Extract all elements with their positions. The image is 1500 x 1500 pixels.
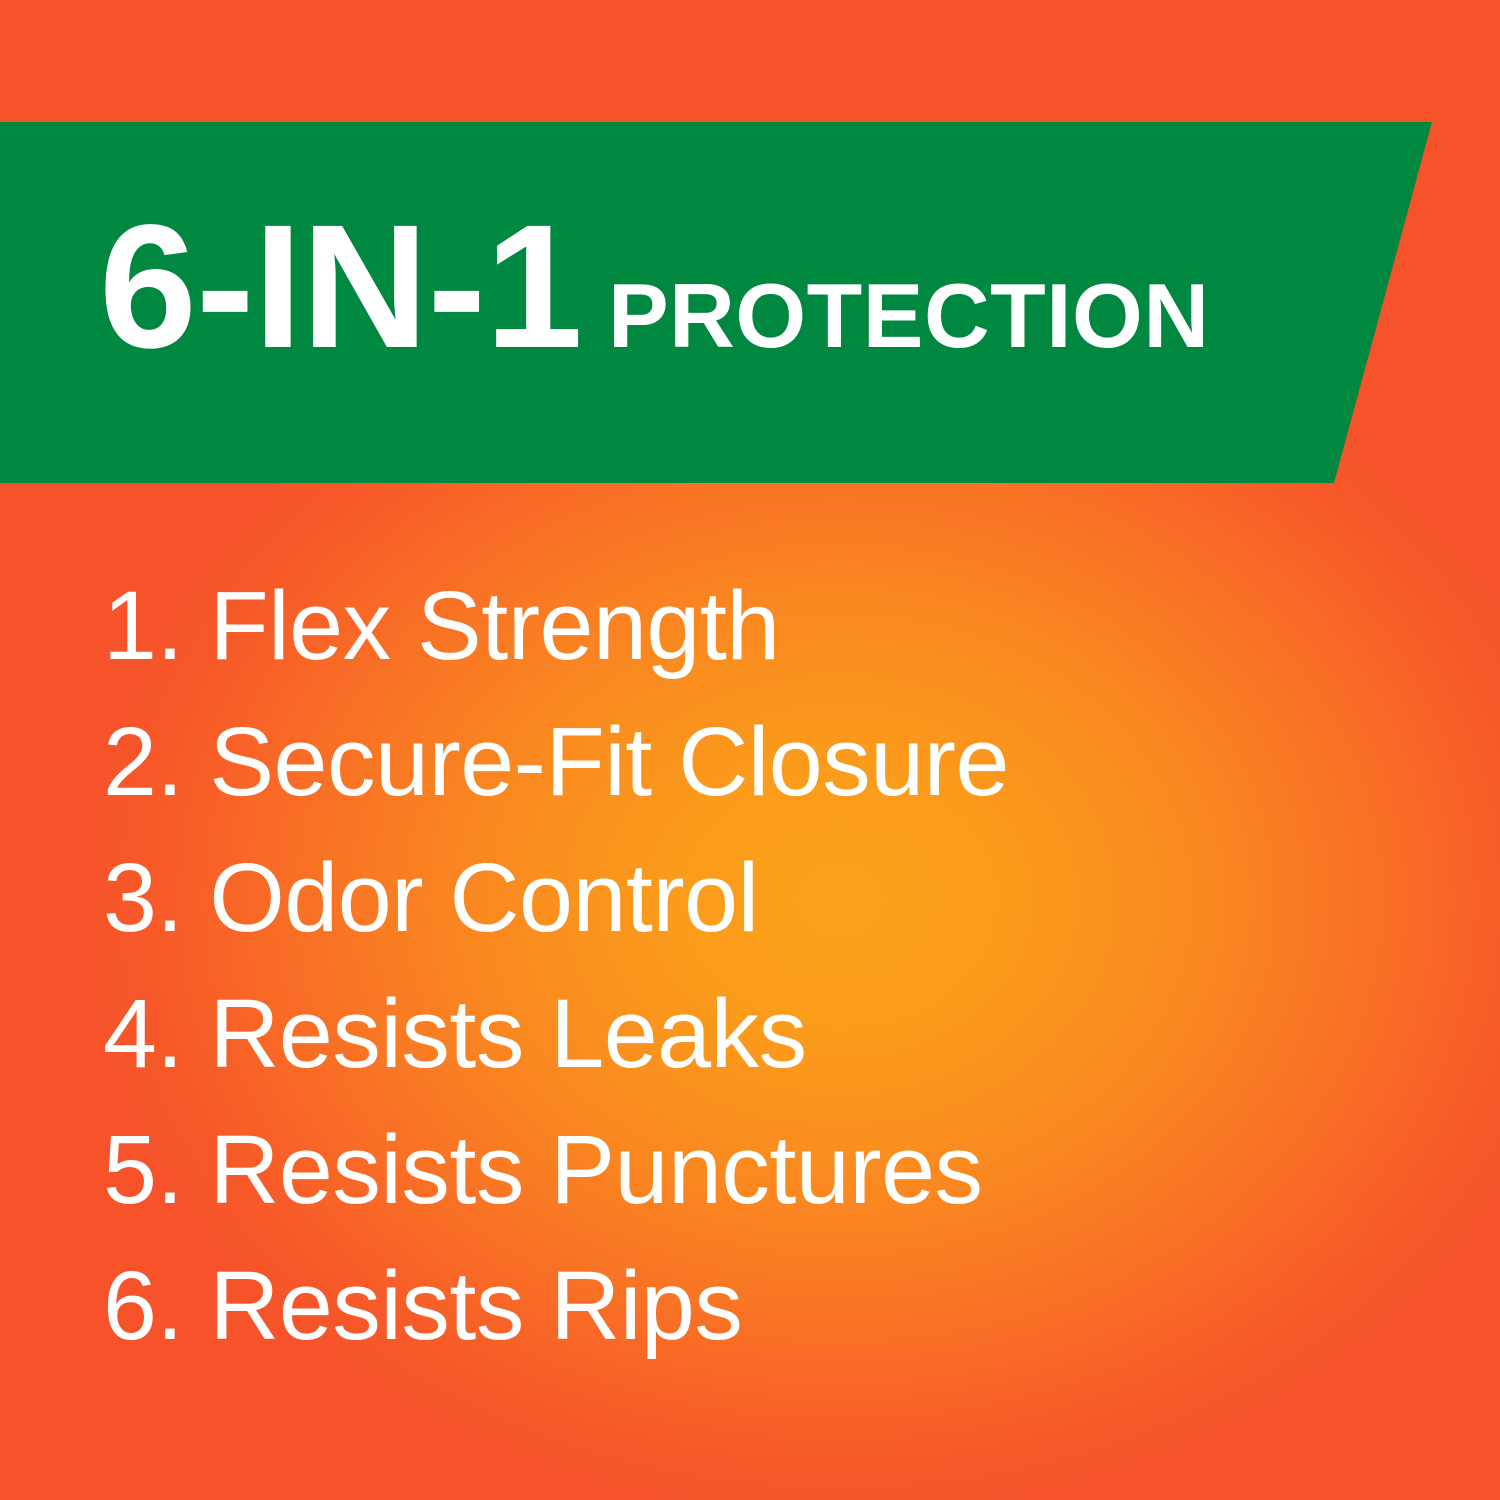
product-feature-poster: 6-IN-1PROTECTION 1. Flex Strength 2. Sec… <box>0 0 1500 1500</box>
banner-headline: 6-IN-1 <box>99 189 582 385</box>
list-item: 2. Secure-Fit Closure <box>103 694 1009 830</box>
banner-subhead: PROTECTION <box>608 266 1210 367</box>
feature-list: 1. Flex Strength 2. Secure-Fit Closure 3… <box>103 558 1009 1374</box>
banner-text-group: 6-IN-1PROTECTION <box>99 199 1210 375</box>
list-item: 1. Flex Strength <box>103 558 1009 694</box>
list-item: 5. Resists Punctures <box>103 1102 1009 1238</box>
list-item: 6. Resists Rips <box>103 1238 1009 1374</box>
list-item: 3. Odor Control <box>103 830 1009 966</box>
list-item: 4. Resists Leaks <box>103 966 1009 1102</box>
headline-banner: 6-IN-1PROTECTION <box>0 122 1432 483</box>
